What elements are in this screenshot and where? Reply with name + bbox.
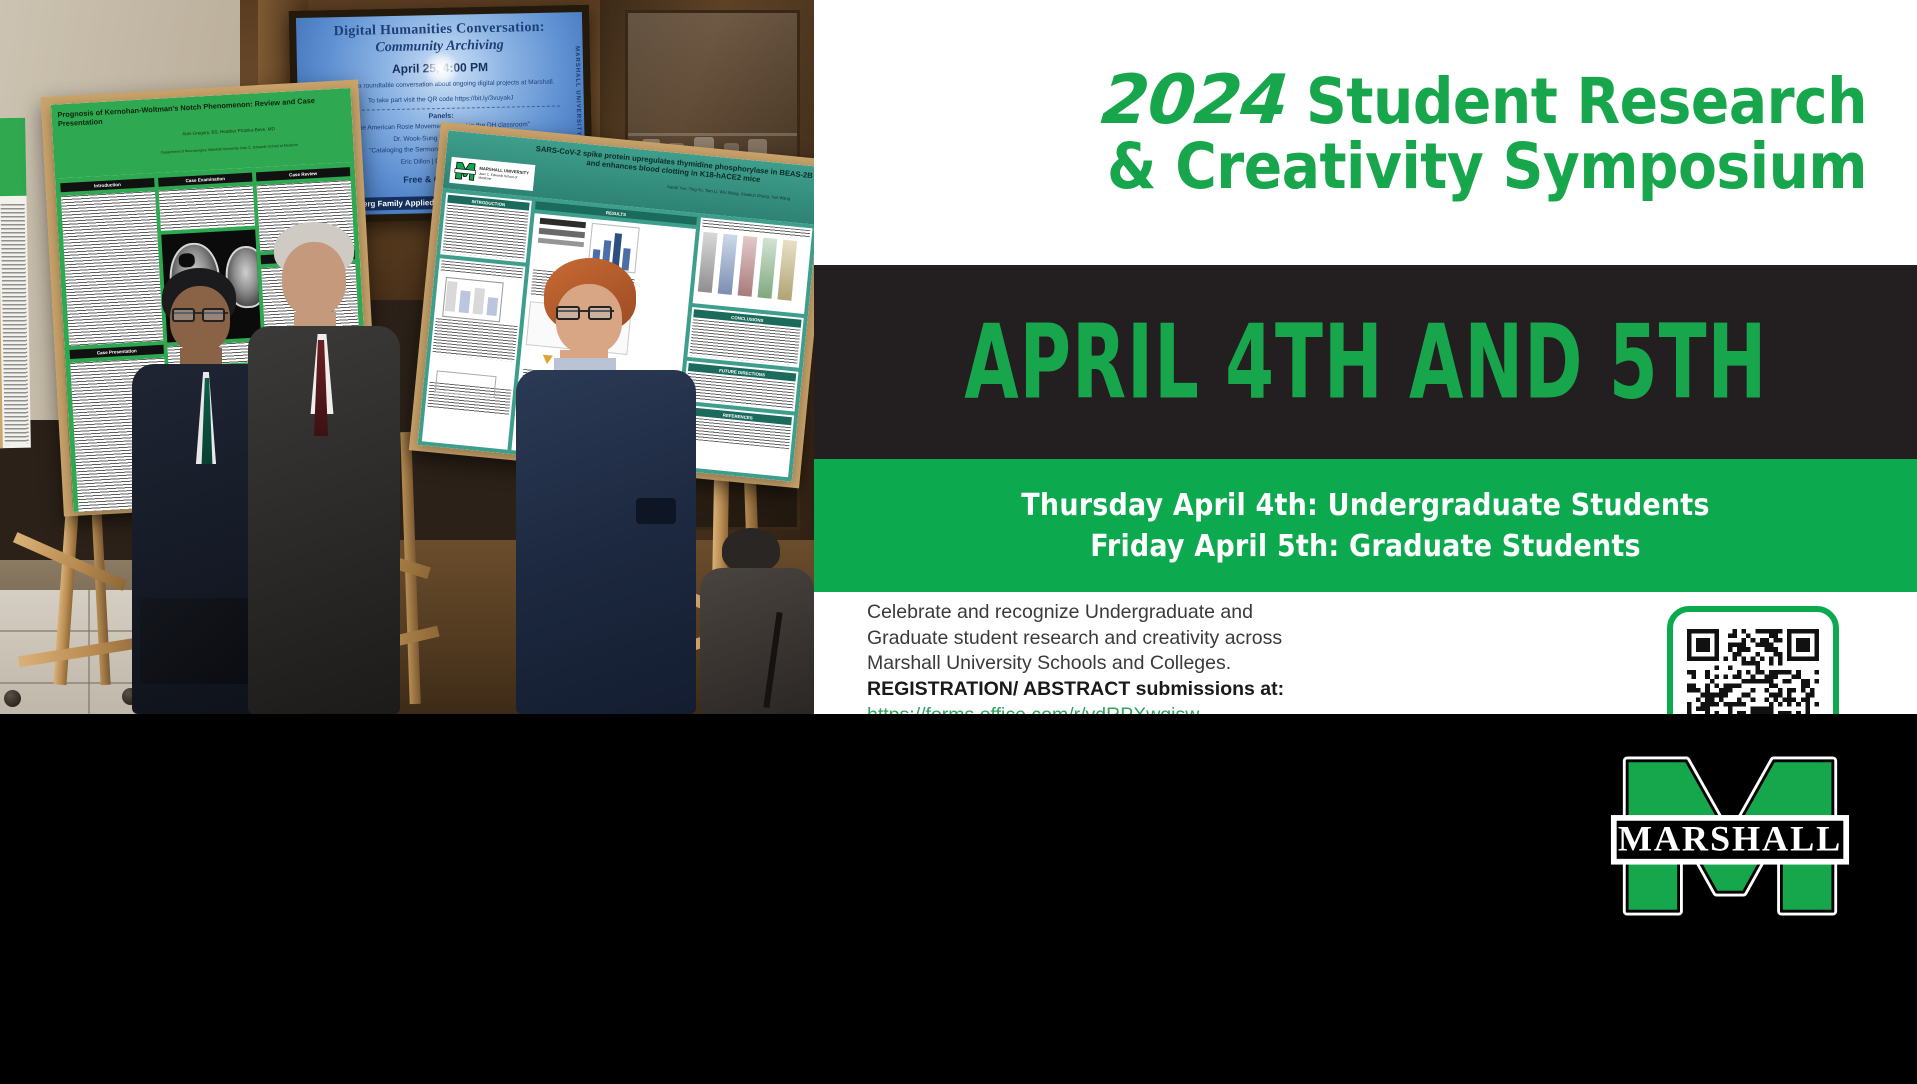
symposium-flyer: Digital Humanities Conversation: Communi… <box>0 0 1917 1084</box>
footer-bar: MARSHALL <box>0 714 1917 1084</box>
description-line-2: Graduate student research and creativity… <box>867 626 1284 652</box>
marshall-university-logo: MARSHALL <box>1605 736 1855 936</box>
attendee-4 <box>700 528 814 714</box>
attendee-3 <box>516 258 696 714</box>
poster-section: FUTURE DIRECTIONS <box>683 361 798 412</box>
description-line-1: Celebrate and recognize Undergraduate an… <box>867 600 1284 626</box>
marshall-m-icon <box>453 159 477 183</box>
title-line-1: Student Research <box>1306 65 1867 138</box>
screen-glare <box>423 50 460 87</box>
description-line-3: Marshall University Schools and Colleges… <box>867 651 1284 677</box>
poster-section-header: Introduction <box>60 178 154 192</box>
event-photo: Digital Humanities Conversation: Communi… <box>0 0 814 714</box>
schedule-line-friday: Friday April 5th: Graduate Students <box>1090 529 1641 564</box>
title-line-2: & Creativity Symposium <box>1107 130 1867 203</box>
poster-figure <box>693 217 813 314</box>
event-year: 2024 <box>1099 66 1290 135</box>
poster-figure <box>422 258 526 450</box>
title-row-2: & Creativity Symposium <box>854 135 1867 199</box>
date-banner: APRIL 4TH AND 5TH <box>814 265 1917 459</box>
poster-column: CONCLUSIONS FUTURE DIRECTIONS REFERENCES <box>677 217 813 477</box>
poster-section: INTRODUCTION <box>440 193 532 263</box>
title-block: 2024 Student Research & Creativity Sympo… <box>814 0 1917 265</box>
registration-block: Celebrate and recognize Undergraduate an… <box>814 592 1917 714</box>
marshall-m-icon: MARSHALL <box>1605 736 1855 936</box>
poster-text-block <box>159 186 255 231</box>
title-row-1: 2024 Student Research <box>854 66 1867 135</box>
schedule-line-thursday: Thursday April 4th: Undergraduate Studen… <box>1021 488 1709 523</box>
flyer-content-column: 2024 Student Research & Creativity Sympo… <box>814 0 1917 714</box>
easel-caster <box>4 690 21 707</box>
marshall-wordmark: MARSHALL <box>1618 818 1842 858</box>
poster-section-header: Case Examination <box>158 173 252 187</box>
poster-section: CONCLUSIONS <box>687 307 803 368</box>
schedule-banner: Thursday April 4th: Undergraduate Studen… <box>814 459 1917 592</box>
date-banner-text: APRIL 4TH AND 5TH <box>964 302 1767 422</box>
registration-label: REGISTRATION/ ABSTRACT submissions at: <box>867 677 1284 703</box>
attendee-2 <box>248 222 400 714</box>
poster-section-header: Case Review <box>256 167 350 181</box>
